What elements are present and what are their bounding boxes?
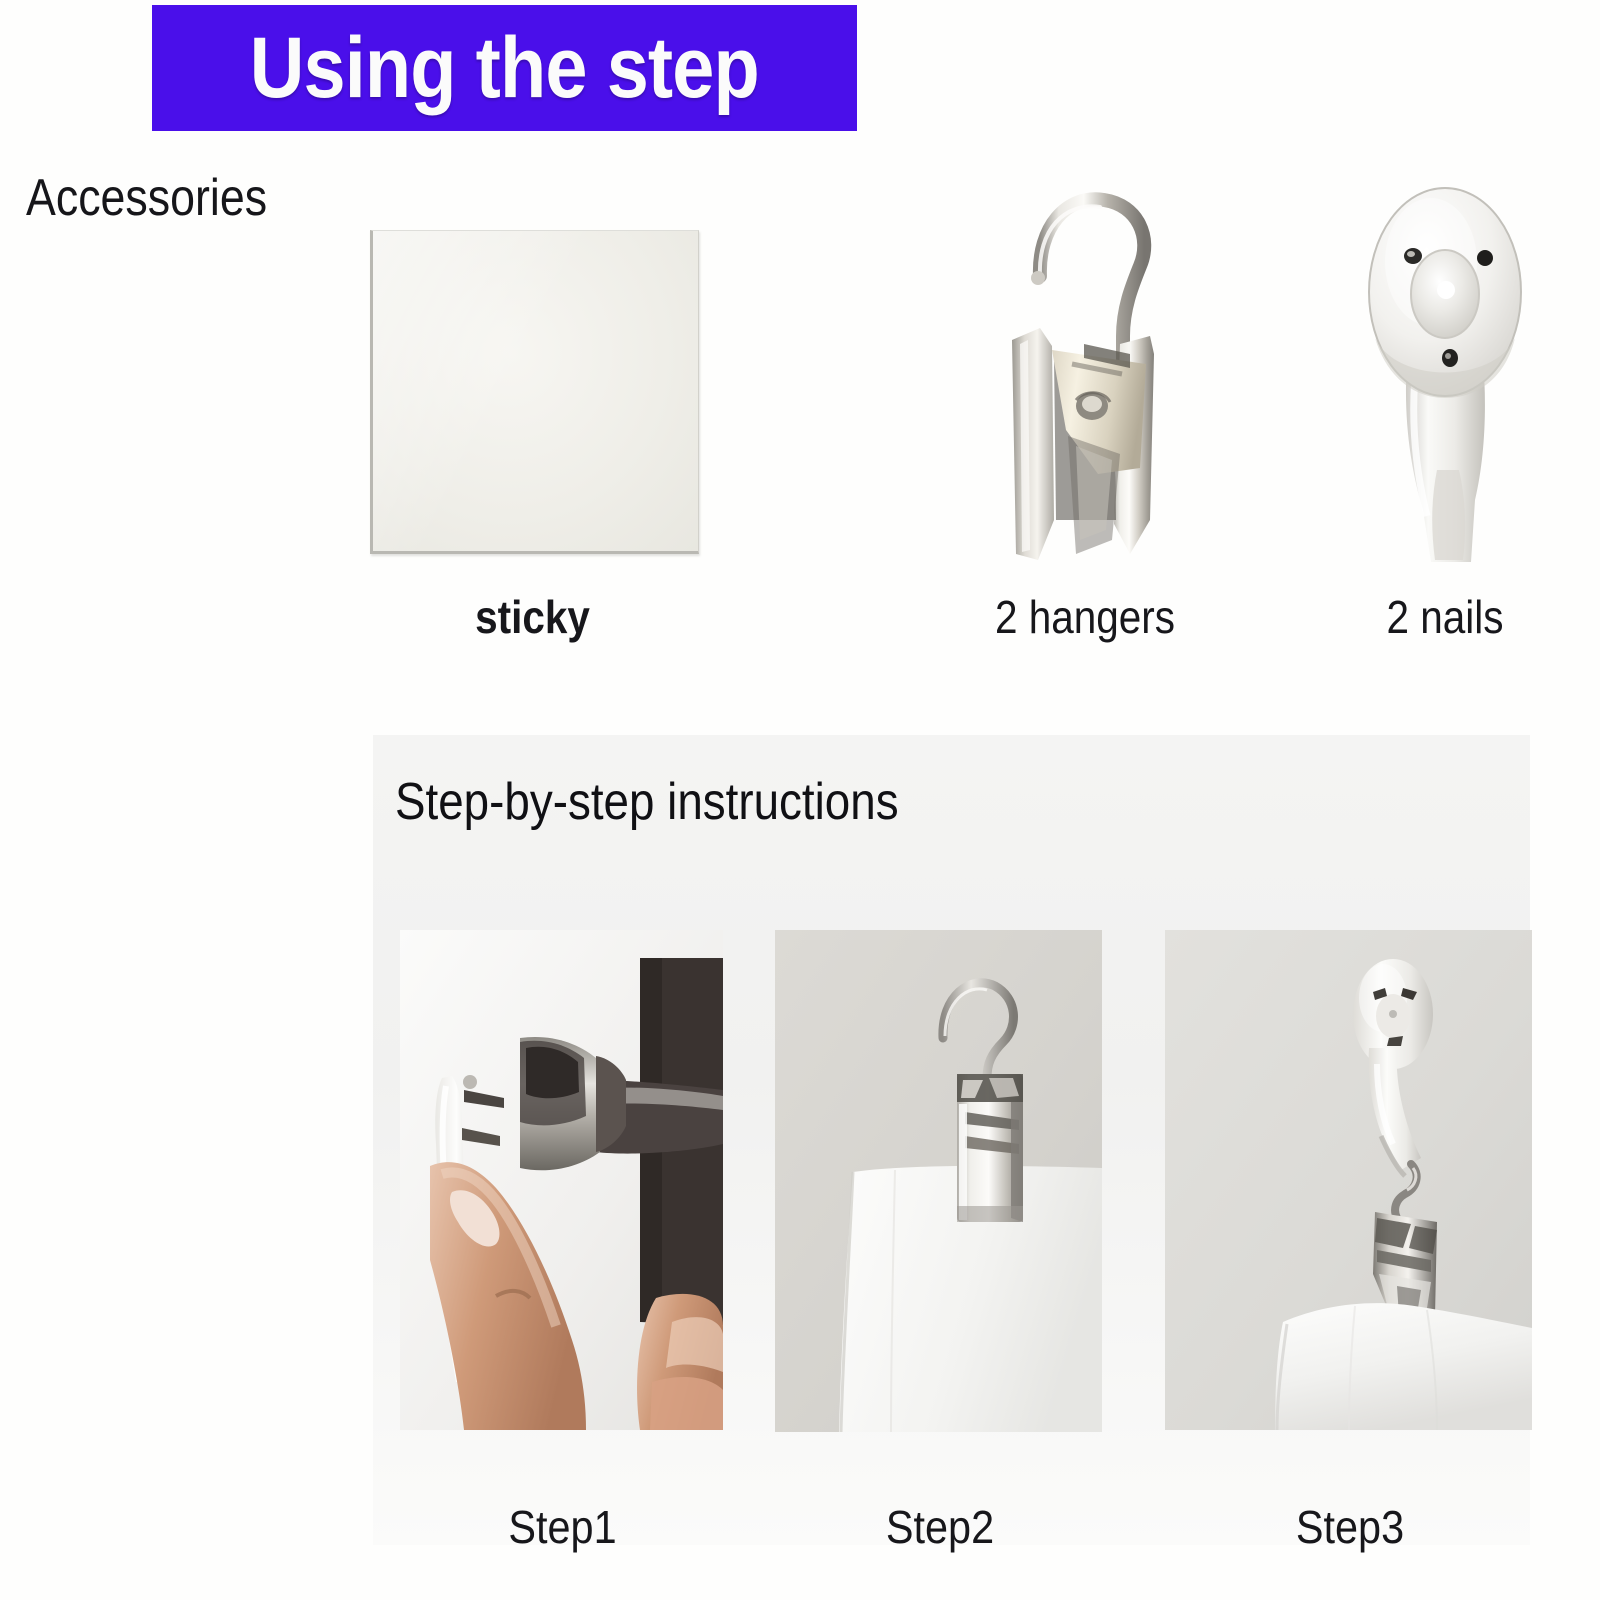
accessory-label-nails: 2 nails [1317, 590, 1572, 644]
accessories-heading: Accessories [26, 168, 267, 228]
step-3-photo [1165, 930, 1532, 1430]
page-title: Using the step [250, 19, 759, 118]
title-banner: Using the step [152, 5, 857, 131]
step-2-photo [775, 930, 1102, 1432]
accessory-item-sticky: sticky [330, 150, 735, 680]
sticky-pad-icon [330, 150, 735, 580]
accessories-row: sticky [330, 150, 1520, 680]
accessory-label-hangers: 2 hangers [913, 590, 1256, 644]
hanger-clip-icon [890, 150, 1280, 580]
nail-hook-icon [1300, 150, 1590, 580]
accessory-item-hangers: 2 hangers [890, 150, 1280, 680]
step-label-1: Step1 [416, 1500, 709, 1554]
accessory-item-nails: 2 nails [1300, 150, 1590, 680]
instructions-heading: Step-by-step instructions [395, 772, 899, 832]
steps-row: Step1 [400, 930, 1535, 1550]
step-label-2: Step2 [792, 1500, 1089, 1554]
step-1-photo [400, 930, 723, 1430]
step-label-3: Step3 [1184, 1500, 1517, 1554]
accessory-label-sticky: sticky [354, 590, 710, 644]
